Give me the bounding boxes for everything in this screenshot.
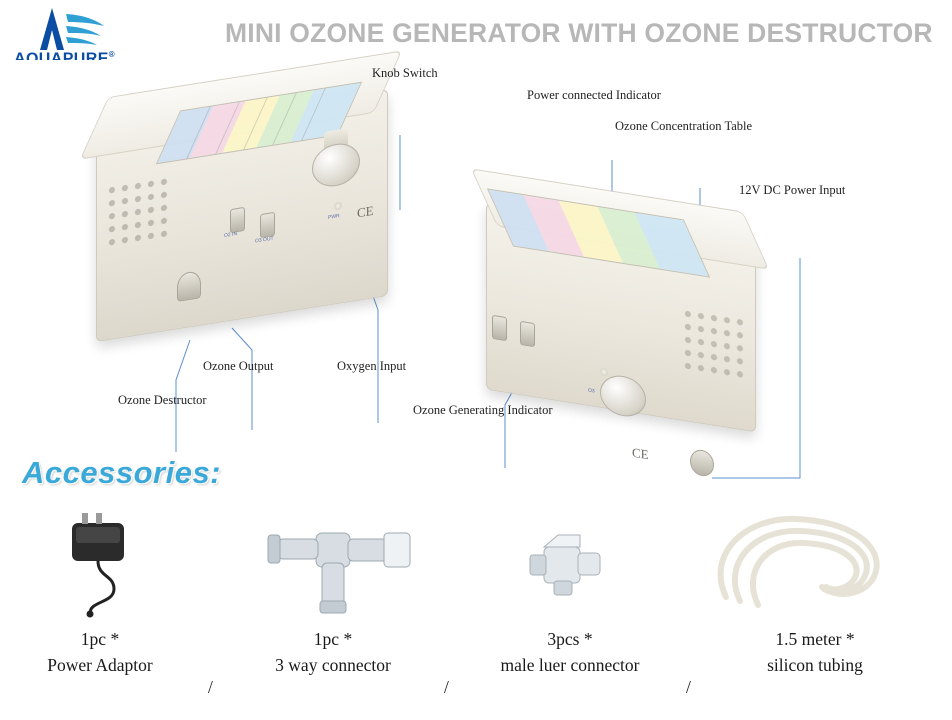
separator-slash: / [444, 677, 449, 698]
accessory-name: 3 way connector [238, 655, 428, 676]
accessory-item: 1pc * Power Adaptor [10, 505, 190, 676]
callout-oxygen-input: Oxygen Input [337, 359, 406, 374]
accessory-name: Power Adaptor [10, 655, 190, 676]
power-adaptor-icon [10, 505, 190, 615]
device-right-vent [682, 307, 744, 381]
accessory-qty: 1.5 meter * [700, 629, 930, 650]
callout-ozone-generating: Ozone Generating Indicator [413, 403, 553, 418]
male-luer-connector-icon [470, 505, 670, 615]
accessory-qty: 1pc * [238, 629, 428, 650]
poster-root: AQUAPURE® MINI OZONE GENERATOR WITH OZON… [0, 0, 952, 720]
ozone-output-port-right[interactable] [492, 315, 507, 341]
three-way-connector-icon [238, 505, 428, 615]
accessory-name: silicon tubing [700, 655, 930, 676]
label-o3-right: O3 [588, 387, 595, 394]
callout-dc-power: 12V DC Power Input [739, 183, 845, 198]
product-photo-area: CE O2 IN O3 OUT PWR CE O3 Knob Switch [0, 60, 952, 455]
device-left-vent [106, 175, 170, 251]
accessory-item: 1pc * 3 way connector [238, 505, 428, 676]
accessory-item: 1.5 meter * silicon tubing [700, 505, 930, 676]
registered-mark: ® [109, 50, 115, 59]
dc-power-input-right[interactable] [690, 448, 714, 478]
page-title: MINI OZONE GENERATOR WITH OZONE DESTRUCT… [225, 18, 952, 49]
oxygen-input-port-left[interactable] [230, 207, 245, 233]
accessory-item: 3pcs * male luer connector [470, 505, 670, 676]
callout-ozone-table: Ozone Concentration Table [615, 119, 752, 134]
ce-mark-left: CE [357, 203, 374, 222]
ce-mark-right: CE [632, 445, 649, 464]
aquapure-a-wave-logo-icon [26, 6, 106, 52]
ozone-generating-indicator-right [600, 367, 608, 376]
callout-ozone-output: Ozone Output [203, 359, 273, 374]
callout-knob-switch: Knob Switch [372, 66, 438, 81]
accessory-name: male luer connector [470, 655, 670, 676]
callout-power-connected: Power connected Indicator [527, 88, 661, 103]
accessory-qty: 3pcs * [470, 629, 670, 650]
accessories-row: 1pc * Power Adaptor 1pc * [0, 505, 952, 720]
device-right-view: CE O3 [470, 180, 800, 480]
accessory-qty: 1pc * [10, 629, 190, 650]
separator-slash: / [686, 677, 691, 698]
separator-slash: / [208, 677, 213, 698]
ozone-output-port-left[interactable] [260, 212, 275, 238]
accessories-heading: Accessories: [22, 455, 221, 491]
oxygen-input-port-right[interactable] [520, 321, 535, 347]
device-left-view: CE O2 IN O3 OUT PWR [72, 82, 422, 357]
header: AQUAPURE® MINI OZONE GENERATOR WITH OZON… [0, 0, 952, 60]
silicon-tubing-icon [700, 505, 930, 615]
callout-ozone-destructor: Ozone Destructor [118, 393, 207, 408]
